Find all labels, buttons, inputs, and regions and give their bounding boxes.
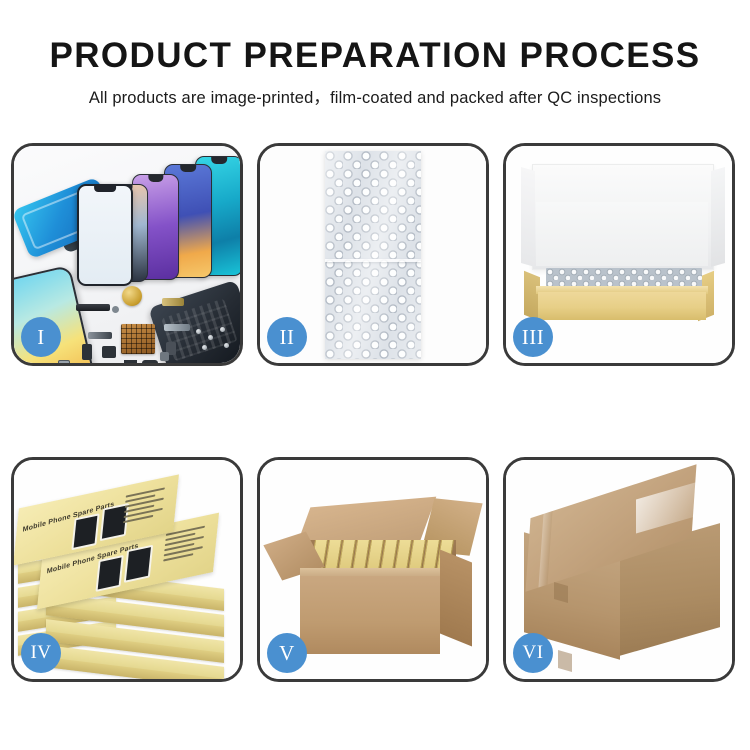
earpiece-mesh-icon (76, 304, 110, 311)
phone-fan-group (72, 154, 240, 279)
process-step-panel-2[interactable]: II (257, 143, 489, 366)
box-artwork-screen-icon (95, 555, 123, 592)
step-badge-1: I (21, 317, 61, 357)
box-artwork-screen-icon (124, 545, 153, 583)
box-artwork-screen-icon (71, 513, 99, 550)
carton-side-panel (440, 550, 472, 647)
vibrator-motor-icon (142, 360, 158, 363)
process-step-panel-5[interactable]: V (257, 457, 489, 682)
box-inner-wall (536, 202, 708, 266)
process-step-panel-6[interactable]: VI (503, 457, 735, 682)
camera-module-icon (102, 346, 116, 358)
sealed-carton-icon (528, 492, 718, 658)
open-carton-icon (282, 494, 472, 656)
process-step-panel-4[interactable]: Mobile Phone Spare Parts Mobile Phone Sp… (11, 457, 243, 682)
carton-front-panel (300, 576, 440, 654)
page-title: PRODUCT PREPARATION PROCESS (0, 0, 750, 75)
flex-cable-gold-icon (162, 298, 184, 306)
flex-cable-grey-icon (88, 332, 112, 339)
step-badge-3: III (513, 317, 553, 357)
small-chip-icon (160, 352, 169, 361)
box-spec-lines (122, 486, 172, 531)
kraft-box-front-icon (538, 292, 706, 320)
screws-group-icon (194, 327, 234, 353)
step-badge-6: VI (513, 633, 553, 673)
page-subtitle: All products are image-printed，film-coat… (0, 75, 750, 108)
carton-tape-mark (554, 582, 568, 603)
copper-grid-chip-icon (121, 324, 155, 354)
sensor-part-icon (58, 360, 70, 363)
step-badge-5: V (267, 633, 307, 673)
process-step-grid: I II (11, 143, 739, 682)
wrap-sheen (325, 151, 421, 359)
step-badge-2: II (267, 317, 307, 357)
home-button-icon (112, 306, 119, 313)
speaker-box-icon (124, 360, 137, 363)
process-step-panel-3[interactable]: III (503, 143, 735, 366)
step-badge-4: IV (21, 633, 61, 673)
screen-protector-icon (77, 184, 133, 286)
speaker-coil-icon (122, 286, 142, 306)
flex-cable-silver-icon (164, 324, 190, 331)
connector-part-icon (82, 344, 92, 360)
carton-tape-mark (558, 650, 572, 672)
bubble-wrap-pouch-icon (325, 151, 421, 359)
product-preparation-process-page: PRODUCT PREPARATION PROCESS All products… (0, 0, 750, 750)
process-step-panel-1[interactable]: I (11, 143, 243, 366)
page-header: PRODUCT PREPARATION PROCESS All products… (0, 0, 750, 108)
